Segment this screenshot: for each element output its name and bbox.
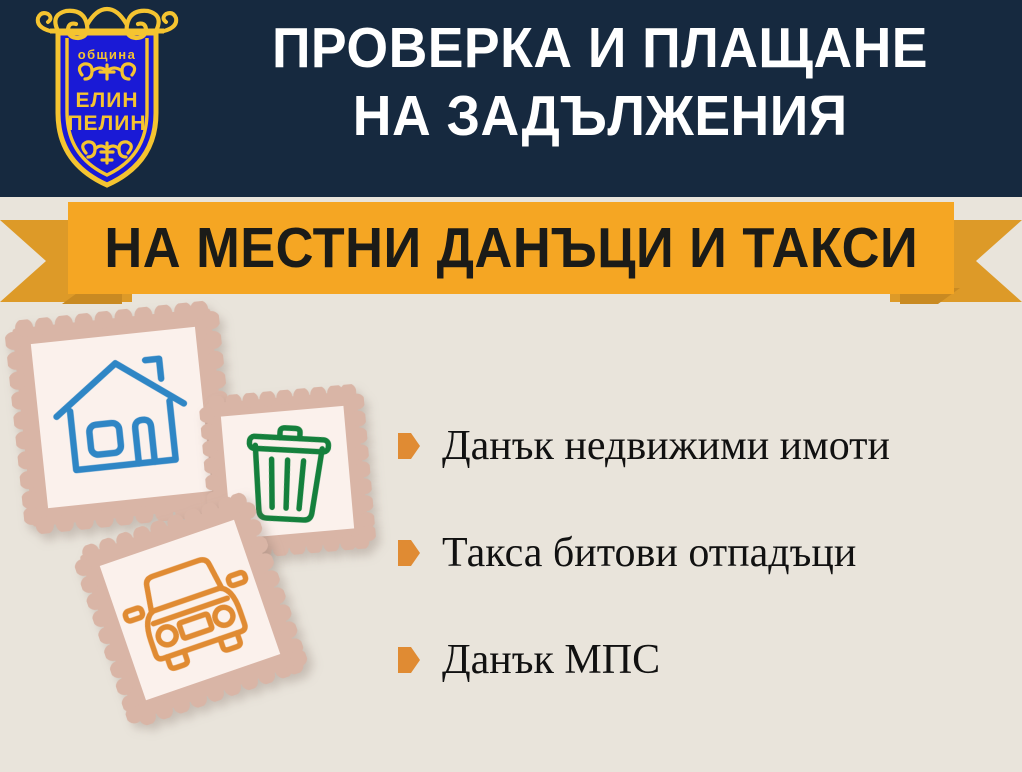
header-bar: община ЕЛИН ПЕЛИН xyxy=(0,0,1022,197)
list-item[interactable]: Такса битови отпадъци xyxy=(398,527,1018,579)
arrow-bullet-icon xyxy=(398,540,420,566)
arrow-bullet-icon xyxy=(398,433,420,459)
emblem-text-obshtina: община xyxy=(78,47,136,62)
list-item-label: Данък МПС xyxy=(442,636,660,684)
ribbon-band: НА МЕСТНИ ДАНЪЦИ И ТАКСИ xyxy=(68,202,954,294)
tax-types-list: Данък недвижими имоти Такса битови отпад… xyxy=(398,420,1018,741)
coat-of-arms-emblem: община ЕЛИН ПЕЛИН xyxy=(30,5,185,190)
list-item-label: Такса битови отпадъци xyxy=(442,529,856,577)
page-title-line-1: ПРОВЕРКА И ПЛАЩАНЕ xyxy=(272,14,928,82)
emblem-text-pelin: ПЕЛИН xyxy=(67,112,146,135)
emblem-text-elin: ЕЛИН xyxy=(75,89,138,112)
poster-root: община ЕЛИН ПЕЛИН xyxy=(0,0,1022,772)
list-item-label: Данък недвижими имоти xyxy=(442,422,890,470)
page-title-line-2: НА ЗАДЪЛЖЕНИЯ xyxy=(353,82,848,150)
coat-of-arms-svg: община ЕЛИН ПЕЛИН xyxy=(30,5,185,190)
stamp-collage xyxy=(0,300,420,770)
list-item[interactable]: Данък МПС xyxy=(398,634,1018,686)
subtitle-ribbon: НА МЕСТНИ ДАНЪЦИ И ТАКСИ xyxy=(0,196,1022,308)
list-item[interactable]: Данък недвижими имоти xyxy=(398,420,1018,472)
ribbon-label: НА МЕСТНИ ДАНЪЦИ И ТАКСИ xyxy=(104,218,918,278)
header-title-block: ПРОВЕРКА И ПЛАЩАНЕ НА ЗАДЪЛЖЕНИЯ xyxy=(185,14,1015,184)
arrow-bullet-icon xyxy=(398,647,420,673)
